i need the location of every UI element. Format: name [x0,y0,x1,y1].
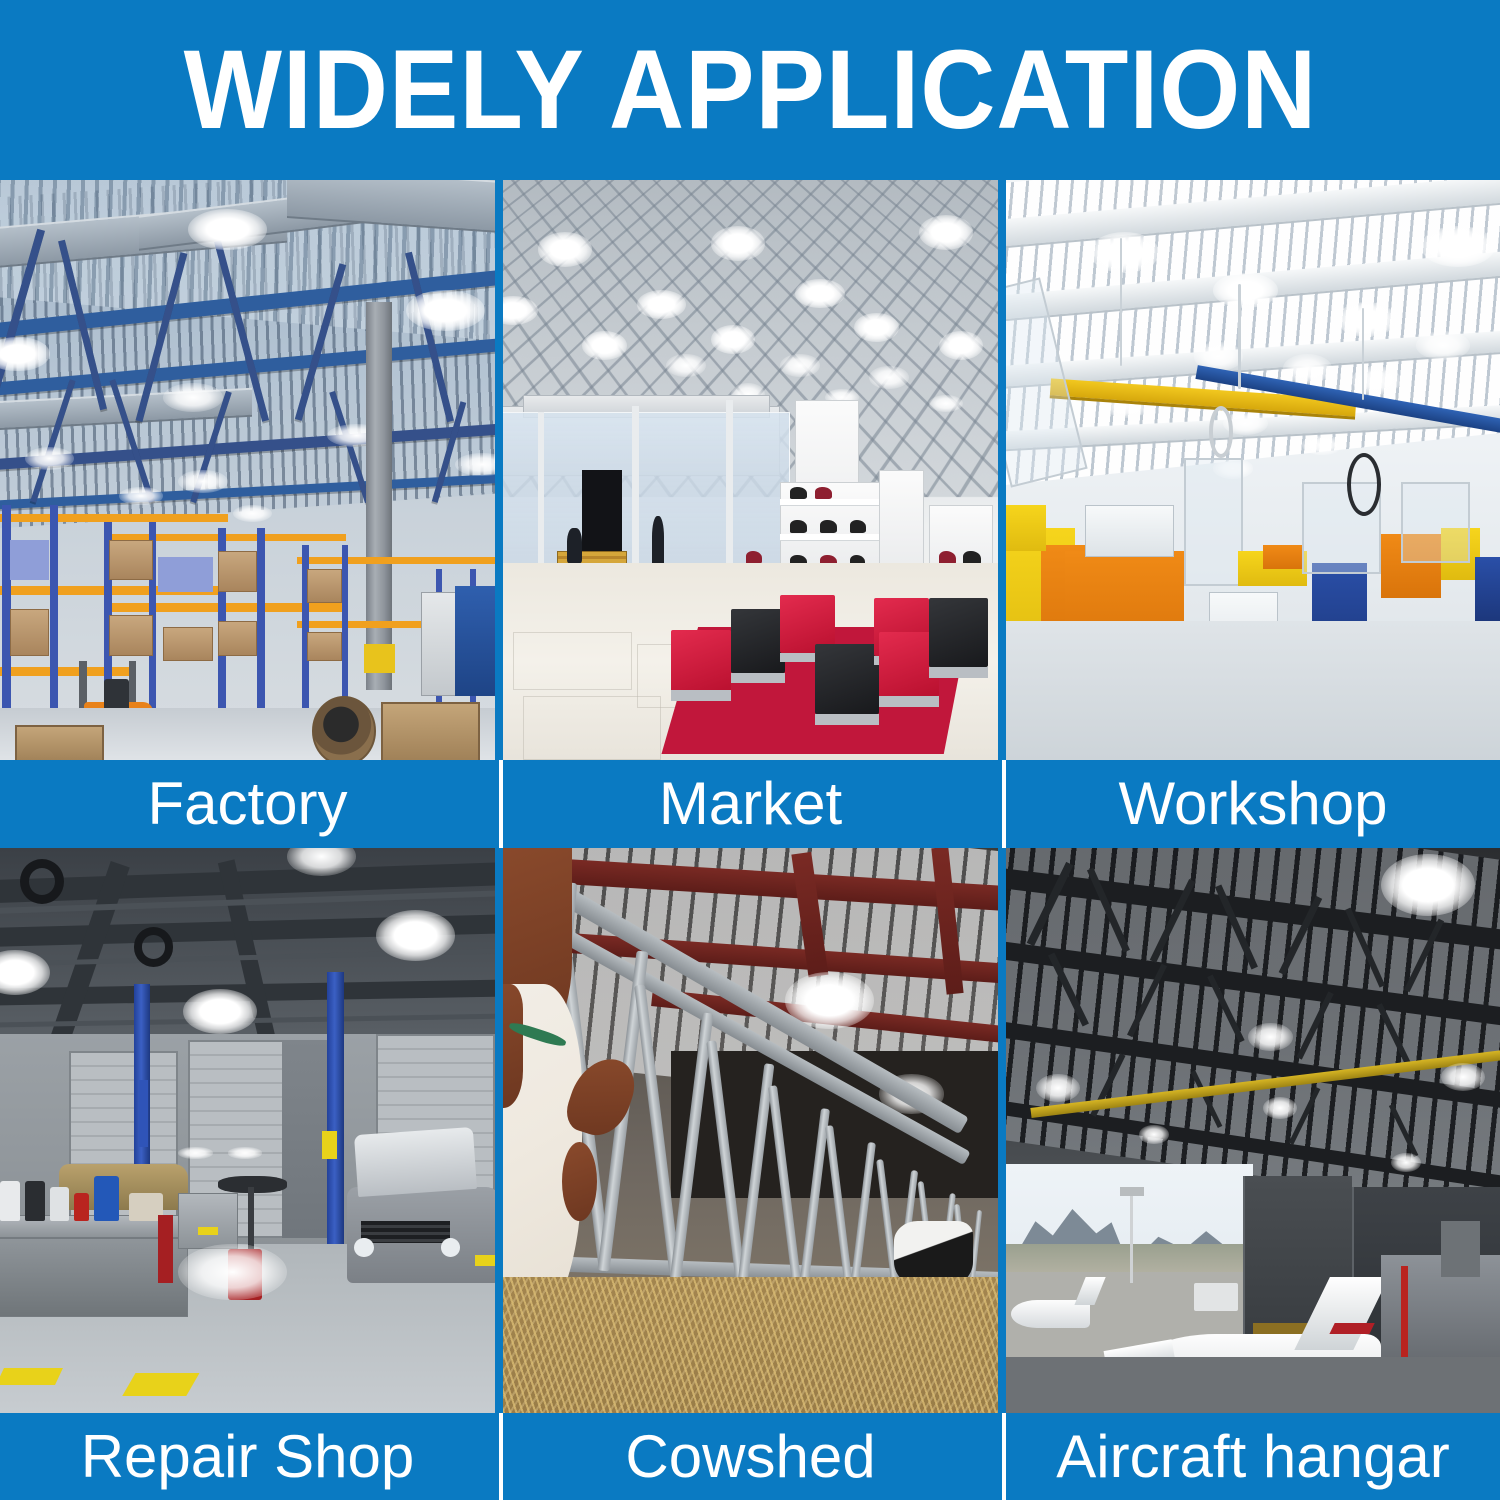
ottoman [671,630,730,694]
grid-cell-repair-shop[interactable]: Repair Shop [0,848,495,1500]
high-bay-light [163,383,222,412]
caption-divider [1002,1413,1006,1500]
downlight [538,232,592,267]
caption-repair-shop: Repair Shop [0,1413,495,1500]
high-bay-light [1090,232,1159,273]
high-bay-light [1302,435,1342,455]
ottoman [815,644,879,714]
caption-workshop: Workshop [1006,760,1500,848]
downlight [666,354,706,377]
photo-aircraft-hangar [1006,848,1500,1413]
photo-repair-shop [0,848,495,1413]
high-bay-light [188,209,267,250]
caption-divider [499,1413,503,1500]
downlight [919,215,973,250]
downlight [939,331,984,360]
photo-workshop [1006,180,1500,760]
caption-label: Factory [147,774,347,834]
photo-market [503,180,998,760]
downlight [780,354,820,377]
photo-factory [0,180,495,760]
high-bay-light [1416,331,1470,360]
high-bay-light [455,453,495,476]
vehicle-lift [327,972,344,1255]
ottoman [731,609,785,673]
page-title: WIDELY APPLICATION [183,34,1317,146]
caption-cowshed: Cowshed [503,1413,998,1500]
application-grid: Factory [0,180,1500,1500]
grid-cell-workshop[interactable]: Workshop [1006,180,1500,848]
photo-cowshed [503,848,998,1413]
high-bay-light [1283,354,1332,383]
downlight [795,279,845,308]
caption-factory: Factory [0,760,495,848]
downlight [637,290,687,319]
downlight [929,395,964,412]
ottoman [929,598,988,668]
high-bay-light [25,447,75,470]
high-bay-light [119,487,164,504]
caption-label: Cowshed [625,1427,875,1487]
high-bay-light [1441,1063,1485,1091]
grid-row-bottom: Repair Shop [0,848,1500,1500]
caption-market: Market [503,760,998,848]
high-bay-light [1337,302,1396,337]
high-bay-light [1248,1023,1292,1051]
caption-divider [499,760,503,848]
high-bay-light [233,505,273,522]
high-bay-light [1213,273,1277,308]
high-bay-light [406,290,485,331]
high-bay-light [1139,1125,1169,1144]
caption-label: Repair Shop [81,1427,415,1487]
grid-cell-factory[interactable]: Factory [0,180,495,848]
caption-aircraft-hangar: Aircraft hangar [1006,1413,1500,1500]
high-bay-light [1381,854,1475,916]
grid-cell-cowshed[interactable]: Cowshed [503,848,998,1500]
high-bay-light [1421,226,1495,267]
grid-cell-market[interactable]: Market [503,180,998,848]
high-bay-light [178,470,228,493]
caption-divider [1002,760,1006,848]
poster-root: WIDELY APPLICATION [0,0,1500,1500]
grid-cell-aircraft-hangar[interactable]: Aircraft hangar [1006,848,1500,1500]
high-bay-light [376,910,455,961]
downlight [869,366,909,389]
high-bay-light [1352,366,1401,395]
caption-label: Aircraft hangar [1056,1427,1450,1487]
downlight [582,331,627,360]
grid-row-top: Factory [0,180,1500,848]
downlight [711,325,756,354]
caption-label: Market [659,774,842,834]
caption-label: Workshop [1118,774,1387,834]
header-banner: WIDELY APPLICATION [0,0,1500,180]
